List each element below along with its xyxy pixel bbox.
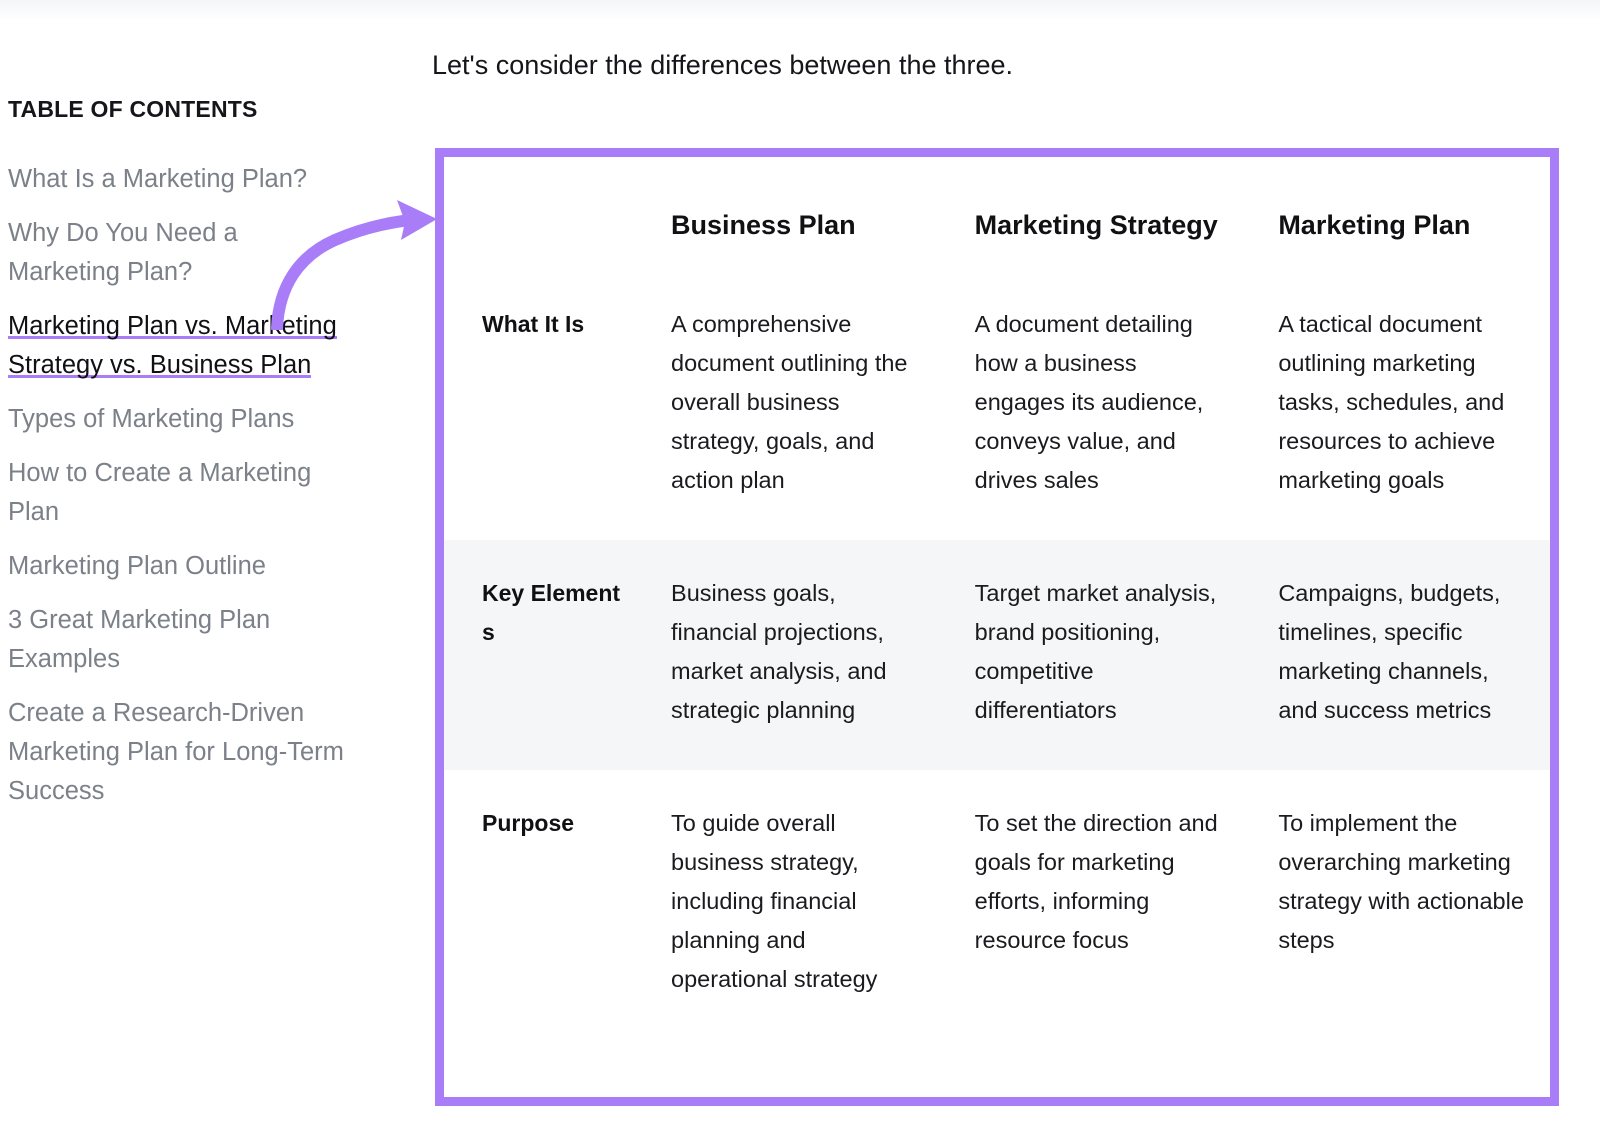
table-cell-r2-c0: To guide overall business strategy, incl… bbox=[639, 770, 943, 1039]
table-cell-r2-c2: To implement the overarching marketing s… bbox=[1246, 770, 1550, 1039]
toc-item-label: How to Create a Marketing Plan bbox=[8, 459, 311, 526]
table-of-contents-heading: TABLE OF CONTENTS bbox=[8, 96, 410, 124]
toc-item-label: Marketing Plan Outline bbox=[8, 552, 266, 580]
column-header-2: Marketing Plan bbox=[1246, 157, 1550, 271]
table-cell-r0-c2: A tactical document outlining marketing … bbox=[1246, 271, 1550, 540]
table-cell-r1-c2: Campaigns, budgets, timelines, specific … bbox=[1246, 540, 1550, 770]
toc-item-4[interactable]: How to Create a Marketing Plan bbox=[8, 454, 353, 532]
toc-item-label: Types of Marketing Plans bbox=[8, 405, 294, 433]
top-gradient-band bbox=[0, 0, 1600, 20]
table-row: PurposeTo guide overall business strateg… bbox=[444, 770, 1550, 1039]
table-cell-r1-c0: Business goals, financial projections, m… bbox=[639, 540, 943, 770]
table-row: Key ElementsBusiness goals, financial pr… bbox=[444, 540, 1550, 770]
toc-item-3[interactable]: Types of Marketing Plans bbox=[8, 400, 353, 439]
toc-item-label: What Is a Marketing Plan? bbox=[8, 165, 307, 193]
comparison-table-header: Business PlanMarketing StrategyMarketing… bbox=[444, 157, 1550, 271]
row-label-2: Purpose bbox=[444, 770, 639, 1039]
toc-item-5[interactable]: Marketing Plan Outline bbox=[8, 547, 353, 586]
toc-item-label: 3 Great Marketing Plan Examples bbox=[8, 606, 270, 673]
table-of-contents-sidebar: TABLE OF CONTENTS What Is a Marketing Pl… bbox=[0, 96, 410, 826]
column-header-0: Business Plan bbox=[639, 157, 943, 271]
table-of-contents-list: What Is a Marketing Plan?Why Do You Need… bbox=[8, 160, 410, 811]
table-cell-r0-c1: A document detailing how a business enga… bbox=[943, 271, 1247, 540]
row-label-1: Key Elements bbox=[444, 540, 639, 770]
toc-item-6[interactable]: 3 Great Marketing Plan Examples bbox=[8, 601, 353, 679]
toc-item-label: Create a Research-Driven Marketing Plan … bbox=[8, 699, 344, 805]
comparison-table-highlight-frame: Business PlanMarketing StrategyMarketing… bbox=[435, 148, 1559, 1106]
table-header-row: Business PlanMarketing StrategyMarketing… bbox=[444, 157, 1550, 271]
column-header-1: Marketing Strategy bbox=[943, 157, 1247, 271]
toc-item-0[interactable]: What Is a Marketing Plan? bbox=[8, 160, 353, 199]
table-corner-cell bbox=[444, 157, 639, 271]
toc-item-2[interactable]: Marketing Plan vs. Marketing Strategy vs… bbox=[8, 307, 353, 385]
toc-item-label: Why Do You Need a Marketing Plan? bbox=[8, 219, 238, 286]
toc-item-label: Marketing Plan vs. Marketing Strategy vs… bbox=[8, 312, 337, 381]
table-cell-r0-c0: A comprehensive document outlining the o… bbox=[639, 271, 943, 540]
table-cell-r2-c1: To set the direction and goals for marke… bbox=[943, 770, 1247, 1039]
intro-paragraph: Let's consider the differences between t… bbox=[432, 46, 1013, 84]
comparison-table-body: What It IsA comprehensive document outli… bbox=[444, 271, 1550, 1039]
toc-item-1[interactable]: Why Do You Need a Marketing Plan? bbox=[8, 214, 353, 292]
row-label-0: What It Is bbox=[444, 271, 639, 540]
table-row: What It IsA comprehensive document outli… bbox=[444, 271, 1550, 540]
comparison-table: Business PlanMarketing StrategyMarketing… bbox=[444, 157, 1550, 1039]
toc-item-7[interactable]: Create a Research-Driven Marketing Plan … bbox=[8, 694, 353, 811]
table-cell-r1-c1: Target market analysis, brand positionin… bbox=[943, 540, 1247, 770]
